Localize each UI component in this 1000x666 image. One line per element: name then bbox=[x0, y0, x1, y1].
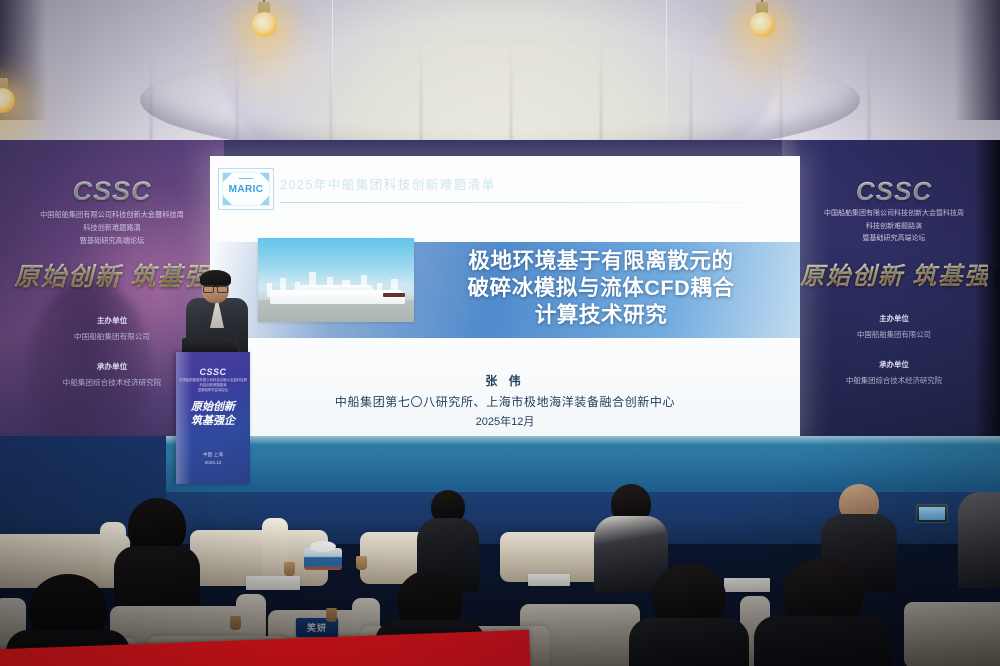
ceiling-corner-shadow-right bbox=[954, 0, 1000, 120]
banner-subtitle-3: 暨基础研究高端论坛 bbox=[14, 235, 210, 246]
person-torso bbox=[629, 618, 749, 666]
tissue-puff bbox=[310, 541, 336, 552]
organizer-name: 中船集团综合技术经济研究院 bbox=[800, 375, 988, 386]
phone-screen bbox=[919, 507, 945, 520]
paper-cup bbox=[356, 556, 367, 570]
banner-subtitle-2: 科技创新难题路演 bbox=[800, 222, 988, 233]
maric-logo-icon: MARIC bbox=[218, 168, 274, 210]
audience-person bbox=[120, 498, 194, 590]
maric-dash bbox=[239, 178, 253, 179]
banner-subtitle-1: 中国船舶集团有限公司科技创新大会暨科技周 bbox=[14, 209, 210, 220]
person-torso bbox=[958, 492, 1000, 588]
backdrop-banner-right: CSSC 中国船舶集团有限公司科技创新大会暨科技周 科技创新难题路演 暨基础研究… bbox=[800, 176, 988, 386]
ship-photo bbox=[258, 238, 414, 322]
maric-corner-triangle bbox=[223, 173, 232, 182]
host-label: 主办单位 bbox=[14, 315, 210, 326]
ceiling-seam bbox=[332, 0, 333, 152]
slide-title-line-2: 破碎冰模拟与流体CFD耦合 bbox=[425, 275, 777, 302]
maric-corner-triangle bbox=[260, 173, 269, 182]
cssc-logo-text: CSSC bbox=[14, 176, 210, 207]
host-name: 中国船舶集团有限公司 bbox=[14, 331, 210, 342]
maric-corner-triangle bbox=[260, 196, 269, 205]
maric-logo-label: MARIC bbox=[229, 184, 264, 195]
tissue-box bbox=[304, 548, 342, 570]
ceiling-fold bbox=[690, 42, 692, 152]
host-name: 中国船舶集团有限公司 bbox=[800, 329, 988, 340]
maric-corner-triangle bbox=[223, 196, 232, 205]
slide-title: 极地环境基于有限离散元的 破碎冰模拟与流体CFD耦合 计算技术研究 bbox=[425, 248, 777, 329]
podium-lectern: CSSC 中国船舶集团有限公司科技创新大会暨科技周 科技创新难题路演 暨基础研究… bbox=[176, 352, 250, 484]
banner-subtitle-1: 中国船舶集团有限公司科技创新大会暨科技周 bbox=[800, 209, 988, 220]
person-torso bbox=[754, 616, 892, 666]
banner-slogan: 原始创新 筑基强企 bbox=[800, 256, 988, 291]
light-bulb-icon bbox=[252, 12, 277, 37]
banner-slogan: 原始创新 筑基强企 bbox=[14, 257, 210, 293]
podium-slogan-line-2: 筑基强企 bbox=[176, 414, 250, 428]
slide-author-block: 张 伟 中船集团第七〇八研究所、上海市极地海洋装备融合创新中心 2025年12月 bbox=[210, 372, 800, 429]
slide-content: MARIC 2025年中船集团科技创新难题清单 bbox=[210, 156, 800, 436]
banner-subtitle-2: 科技创新难题路演 bbox=[14, 222, 210, 233]
slide-header-rule bbox=[280, 202, 780, 203]
paper-cup bbox=[230, 616, 241, 630]
conference-photo: CSSC 中国船舶集团有限公司科技创新大会暨科技周 科技创新难题路演 暨基础研究… bbox=[0, 0, 1000, 666]
presenter-name: 张 伟 bbox=[210, 372, 800, 389]
presenter-affiliation: 中船集团第七〇八研究所、上海市极地海洋装备融合创新中心 bbox=[210, 393, 800, 410]
podium-place: 中国·上海 bbox=[176, 452, 250, 458]
light-bulb-icon bbox=[750, 12, 775, 37]
audience-person bbox=[768, 558, 878, 666]
slide-title-line-3: 计算技术研究 bbox=[425, 302, 777, 329]
cssc-logo-text: CSSC bbox=[800, 176, 988, 207]
podium-subtitle: 中国船舶集团有限公司科技创新大会暨科技周 科技创新难题路演 暨基础研究高端论坛 bbox=[176, 378, 250, 393]
ceiling-seam bbox=[666, 0, 667, 152]
slide-header: 2025年中船集团科技创新难题清单 bbox=[280, 174, 780, 203]
ceiling-fold bbox=[868, 42, 870, 152]
projection-screen: MARIC 2025年中船集团科技创新难题清单 bbox=[210, 156, 800, 436]
podium-subtitle-3: 暨基础研究高端论坛 bbox=[176, 388, 250, 393]
podium-slogan-line-1: 原始创新 bbox=[176, 400, 250, 414]
paper-cup bbox=[326, 608, 337, 622]
eyeglasses-icon bbox=[203, 285, 228, 292]
audience-person bbox=[966, 492, 1000, 582]
paper-cup bbox=[284, 562, 295, 576]
host-label: 主办单位 bbox=[800, 313, 988, 324]
smartphone-icon[interactable] bbox=[916, 504, 948, 523]
organizer-label: 承办单位 bbox=[800, 359, 988, 370]
slide-date: 2025年12月 bbox=[210, 413, 800, 429]
banner-subtitle-3: 暨基础研究高端论坛 bbox=[800, 234, 988, 245]
ceiling-fold bbox=[420, 42, 422, 152]
audience-person bbox=[640, 564, 738, 666]
paper-document bbox=[528, 574, 570, 586]
slide-header-text: 2025年中船集团科技创新难题清单 bbox=[280, 174, 780, 193]
ceiling-fold bbox=[150, 42, 152, 152]
ship-marking bbox=[383, 293, 405, 297]
podium-slogan: 原始创新 筑基强企 bbox=[176, 400, 250, 428]
ceiling-fold bbox=[510, 42, 512, 152]
podium-cssc-logo: CSSC bbox=[176, 367, 250, 377]
slide-title-line-1: 极地环境基于有限离散元的 bbox=[425, 248, 777, 275]
tent-ceiling bbox=[0, 0, 1000, 152]
sofa-seat bbox=[904, 602, 1000, 666]
paper-document bbox=[246, 576, 300, 590]
podium-date: 2025.12 bbox=[176, 460, 250, 465]
ceiling-fold bbox=[600, 42, 602, 152]
